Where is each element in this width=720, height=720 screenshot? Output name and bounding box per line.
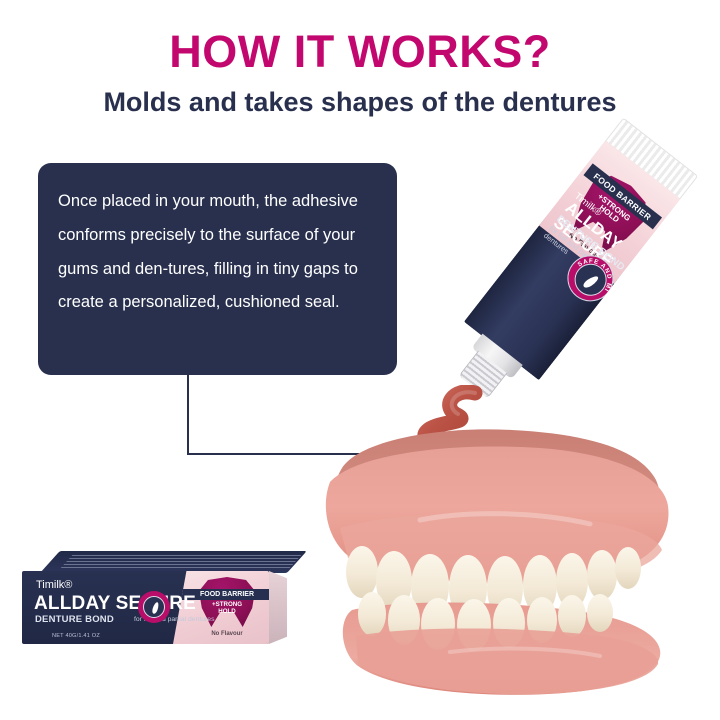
carton-leaf-icon <box>151 602 159 615</box>
carton-no-flavour-label: No Flavour <box>187 631 267 637</box>
carton-strong-hold-label: +STRONG HOLD <box>203 602 251 616</box>
carton-front-panel: FOOD BARRIER +STRONG HOLD No Flavour Tim… <box>22 571 269 644</box>
carton-net-weight: NET 40G/1.41 OZ <box>52 633 100 639</box>
page-title: HOW IT WORKS? <box>0 28 720 75</box>
carton-side-panel <box>269 571 287 644</box>
info-callout-text: Once placed in your mouth, the adhesive … <box>58 185 373 320</box>
carton-product-name: ALLDAY SECURE <box>34 593 196 615</box>
carton-food-barrier-label: FOOD BARRIER <box>200 591 254 598</box>
leader-line-vertical <box>187 375 189 455</box>
denture-illustration <box>300 424 700 699</box>
carton-brand-label: Timilk® <box>36 579 72 591</box>
carton-product-type: DENTURE BOND <box>35 614 114 625</box>
carton-top-fine-print <box>40 553 303 571</box>
info-callout-card: Once placed in your mouth, the adhesive … <box>38 163 397 375</box>
carton-safe-and-mild-seal <box>138 591 170 623</box>
product-carton: FOOD BARRIER +STRONG HOLD No Flavour Tim… <box>22 551 287 646</box>
product-tube: FOOD BARRIER +STRONG HOLD No Flavour Tim… <box>455 105 720 415</box>
carton-seal-inner-disc <box>143 596 165 618</box>
